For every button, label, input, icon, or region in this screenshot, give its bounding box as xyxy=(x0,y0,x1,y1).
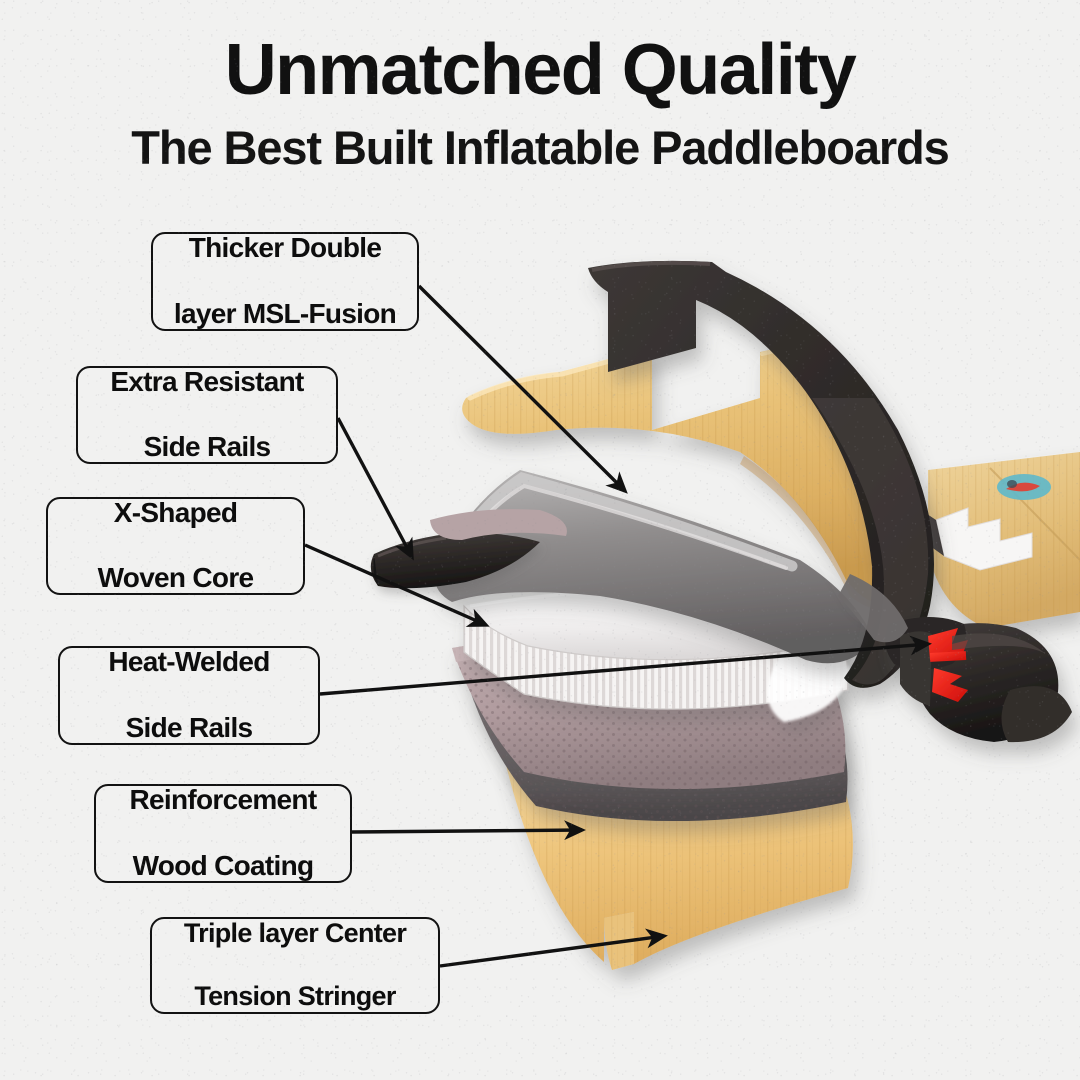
leader-line-1 xyxy=(338,418,412,557)
leader-line-3 xyxy=(320,644,928,694)
leader-line-5 xyxy=(440,936,664,966)
leader-line-2 xyxy=(305,545,486,625)
leader-line-4 xyxy=(352,830,582,832)
infographic-canvas: Unmatched Quality The Best Built Inflata… xyxy=(0,0,1080,1080)
leader-lines xyxy=(0,0,1080,1080)
leader-line-0 xyxy=(419,286,625,491)
